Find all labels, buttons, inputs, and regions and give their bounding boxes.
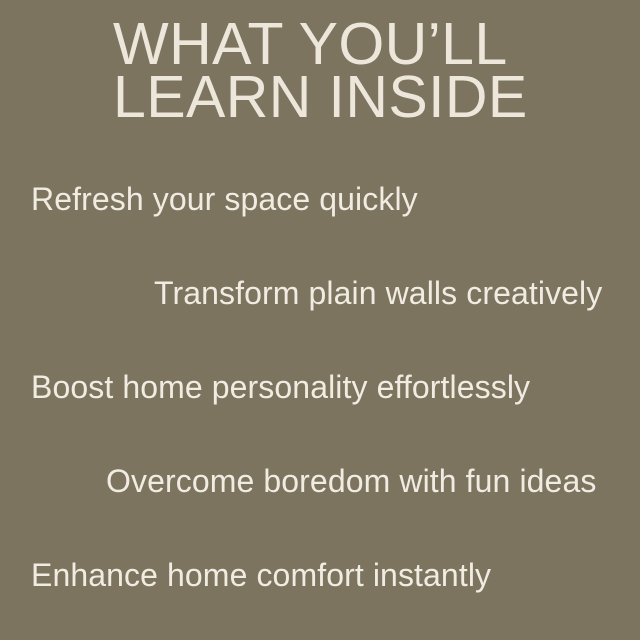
list-item-text-5: Enhance home comfort instantly [0, 556, 491, 594]
page-title-line-2: LEARN INSIDE [113, 71, 613, 124]
slide-canvas: WHAT YOU’LL LEARN INSIDE Refresh your sp… [0, 0, 640, 640]
list-item: Enhance home comfort instantly [0, 528, 640, 622]
page-title: WHAT YOU’LL LEARN INSIDE [113, 18, 613, 124]
list-item-text-1: Refresh your space quickly [0, 180, 418, 218]
list-item-text-4: Overcome boredom with fun ideas [0, 462, 596, 500]
list-item: Refresh your space quickly [0, 152, 640, 246]
list-item-text-2: Transform plain walls creatively [0, 274, 602, 312]
benefits-list: Refresh your space quickly Transform pla… [0, 152, 640, 622]
list-item: Boost home personality effortlessly [0, 340, 640, 434]
list-item: Transform plain walls creatively [0, 246, 640, 340]
list-item-text-3: Boost home personality effortlessly [0, 368, 530, 406]
list-item: Overcome boredom with fun ideas [0, 434, 640, 528]
